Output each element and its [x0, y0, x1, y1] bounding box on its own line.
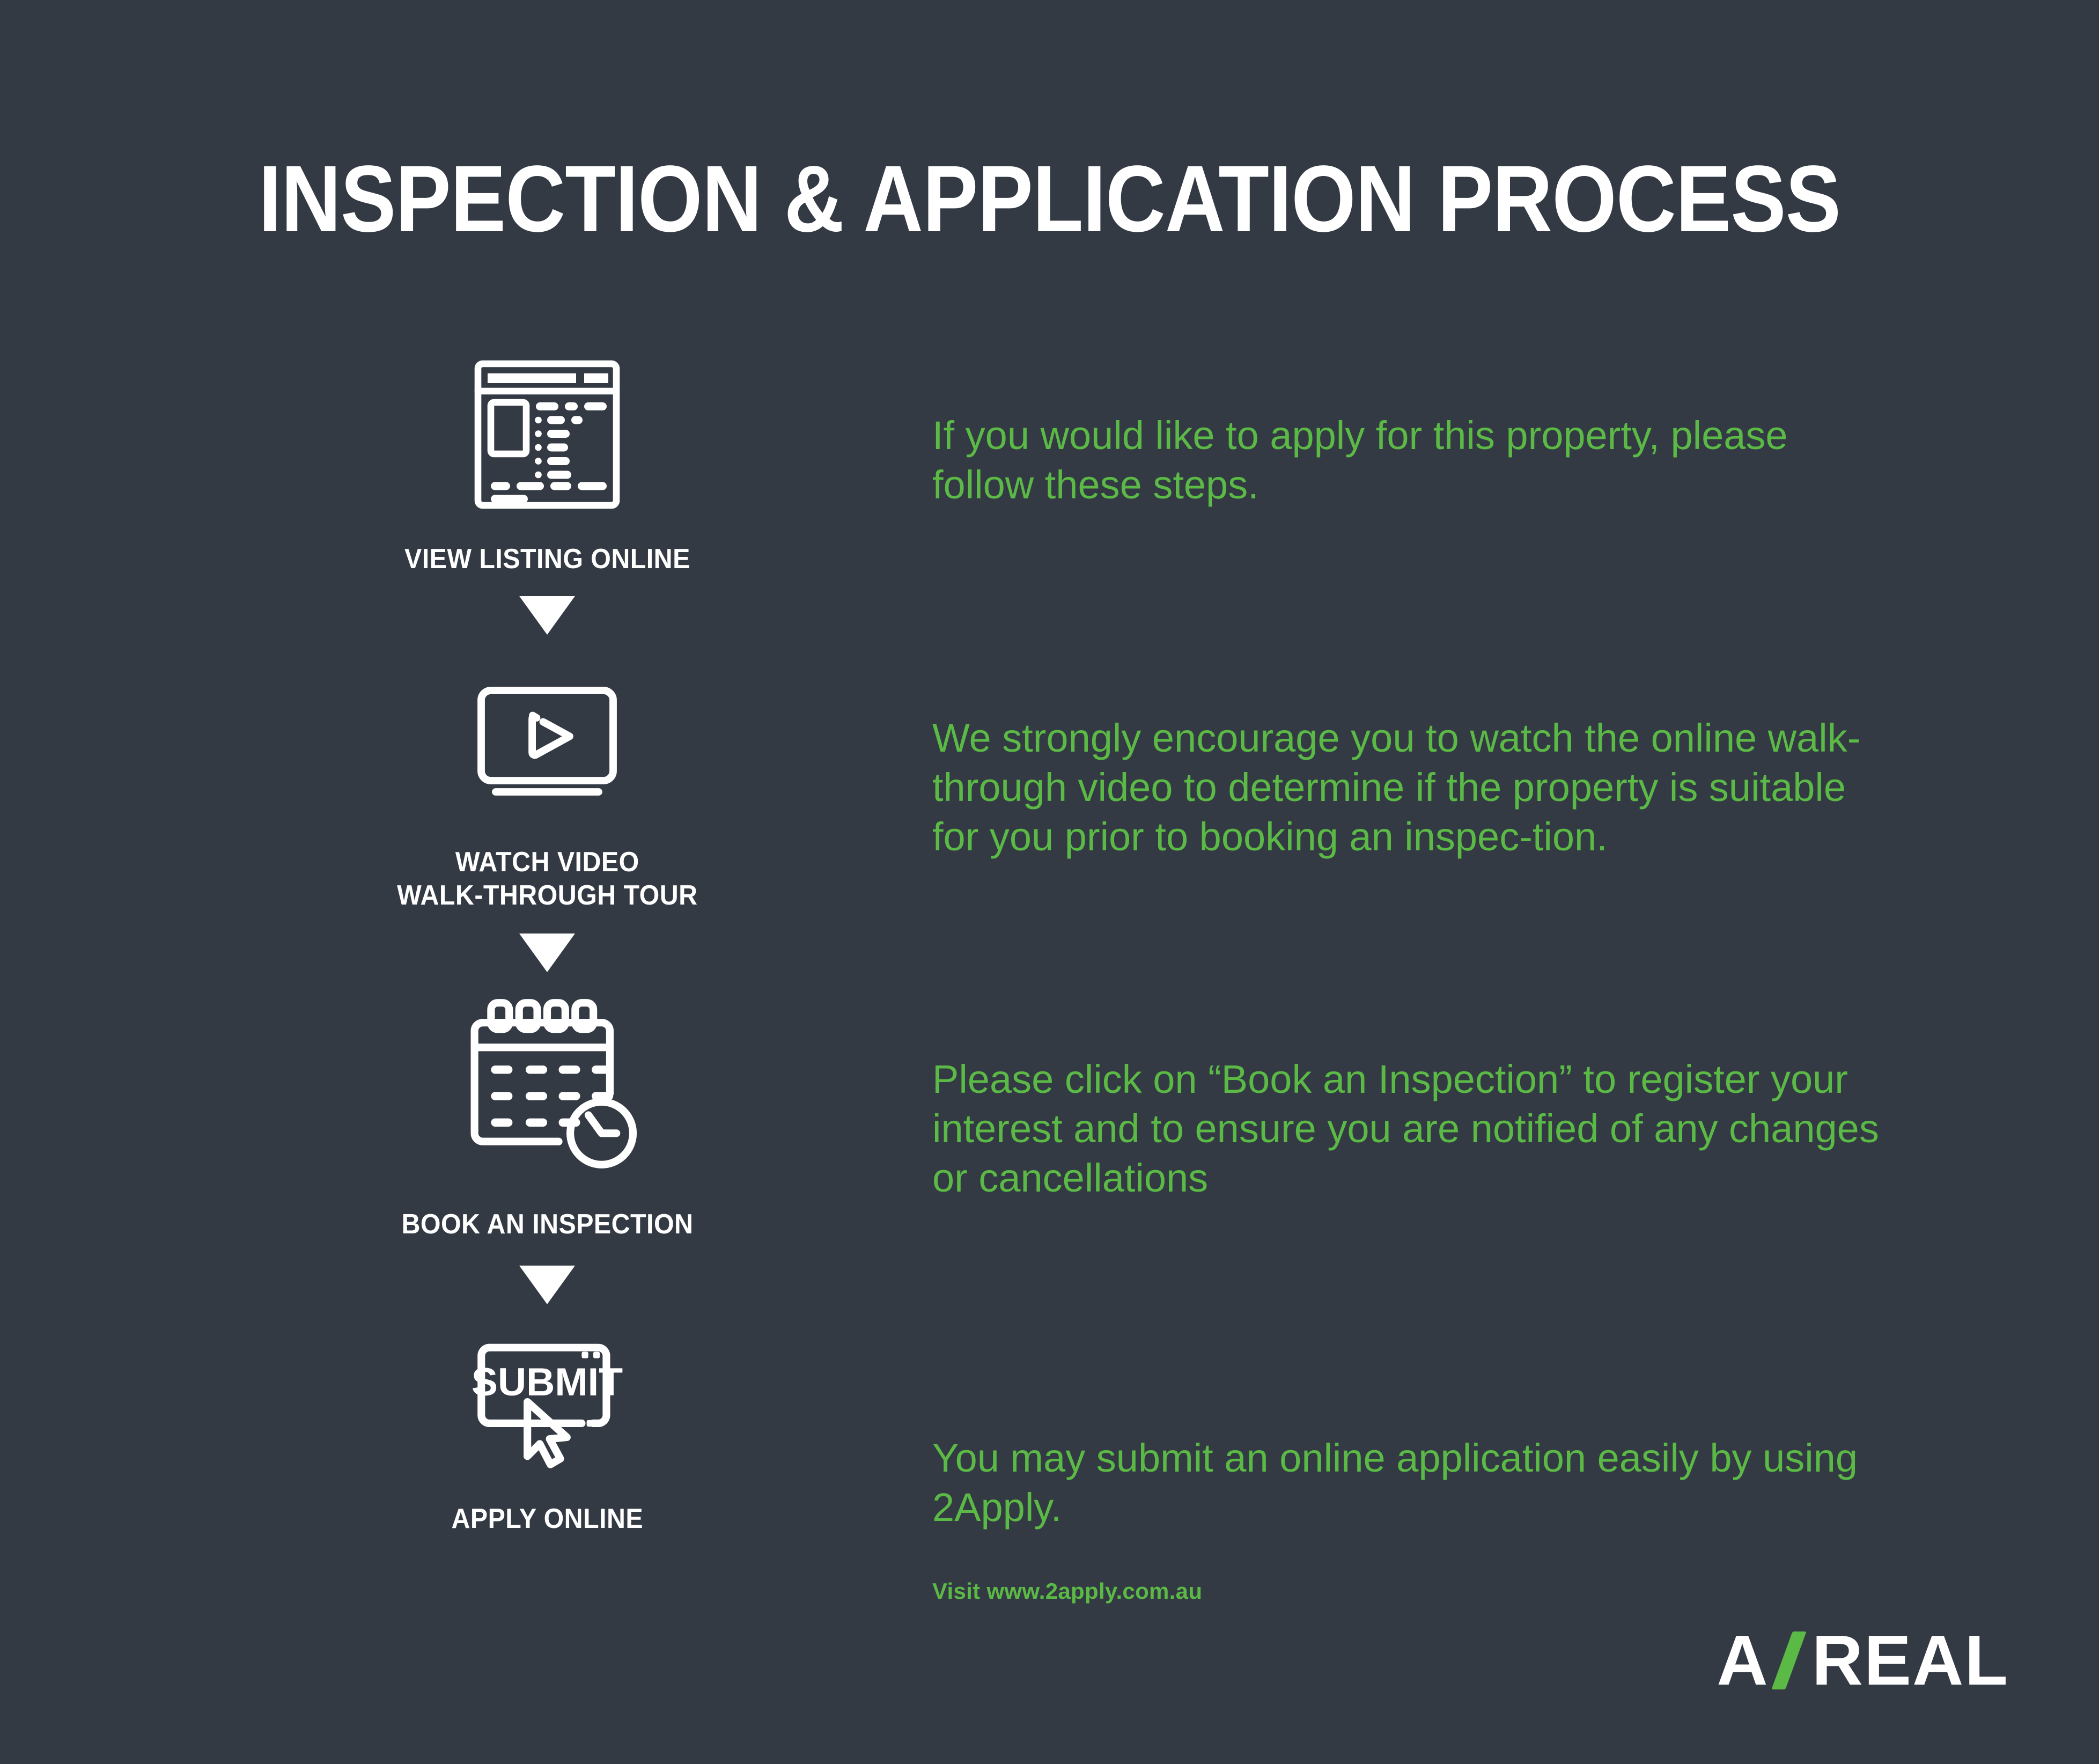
copy-text-apply: You may submit an online application eas…: [932, 1434, 1898, 1532]
step-label-book-inspection: BOOK AN INSPECTION: [401, 1208, 693, 1241]
brand-logo: A REAL: [1717, 1620, 2009, 1701]
down-triangle-arrow-icon: [519, 596, 575, 635]
logo-text-right: REAL: [1812, 1620, 2009, 1701]
copy-block-inspection: Please click on “Book an Inspection” to …: [932, 1055, 1898, 1202]
step-label-apply-online: APPLY ONLINE: [451, 1503, 643, 1535]
process-steps-column: VIEW LISTING ONLINE WATCH VIDEO WALK-THR…: [333, 354, 762, 1536]
step-watch-video[interactable]: WATCH VIDEO WALK-THROUGH TOUR: [333, 655, 762, 912]
step-label-view-listing: VIEW LISTING ONLINE: [404, 543, 690, 576]
copy-text-intro: If you would like to apply for this prop…: [932, 411, 1898, 510]
video-player-icon: [443, 655, 652, 816]
copy-text-video: We strongly encourage you to watch the o…: [932, 714, 1898, 861]
step-apply-online[interactable]: SUBMIT APPLY ONLINE: [333, 1328, 762, 1535]
step-label-watch-video: WATCH VIDEO WALK-THROUGH TOUR: [397, 846, 697, 912]
listing-window-icon: [443, 354, 652, 515]
step-view-listing-online[interactable]: VIEW LISTING ONLINE: [333, 354, 762, 576]
copy-block-intro: If you would like to apply for this prop…: [932, 411, 1898, 510]
copy-text-inspection: Please click on “Book an Inspection” to …: [932, 1055, 1898, 1202]
down-triangle-arrow-icon: [519, 934, 575, 972]
submit-button-cursor-icon: SUBMIT: [440, 1328, 654, 1473]
calendar-clock-icon: [440, 993, 654, 1175]
logo-green-slash-icon: [1771, 1631, 1806, 1689]
page-title: INSPECTION & APPLICATION PROCESS: [126, 145, 1973, 253]
down-triangle-arrow-icon: [519, 1266, 575, 1304]
infographic-canvas: INSPECTION & APPLICATION PROCESS: [0, 0, 2099, 1764]
logo-text-left: A: [1717, 1620, 1769, 1701]
copy-block-video: We strongly encourage you to watch the o…: [932, 714, 1898, 861]
visit-link[interactable]: Visit www.2apply.com.au: [932, 1578, 1202, 1604]
submit-icon-label: SUBMIT: [472, 1359, 623, 1404]
step-book-inspection[interactable]: BOOK AN INSPECTION: [333, 993, 762, 1241]
copy-block-apply: You may submit an online application eas…: [932, 1434, 1898, 1532]
